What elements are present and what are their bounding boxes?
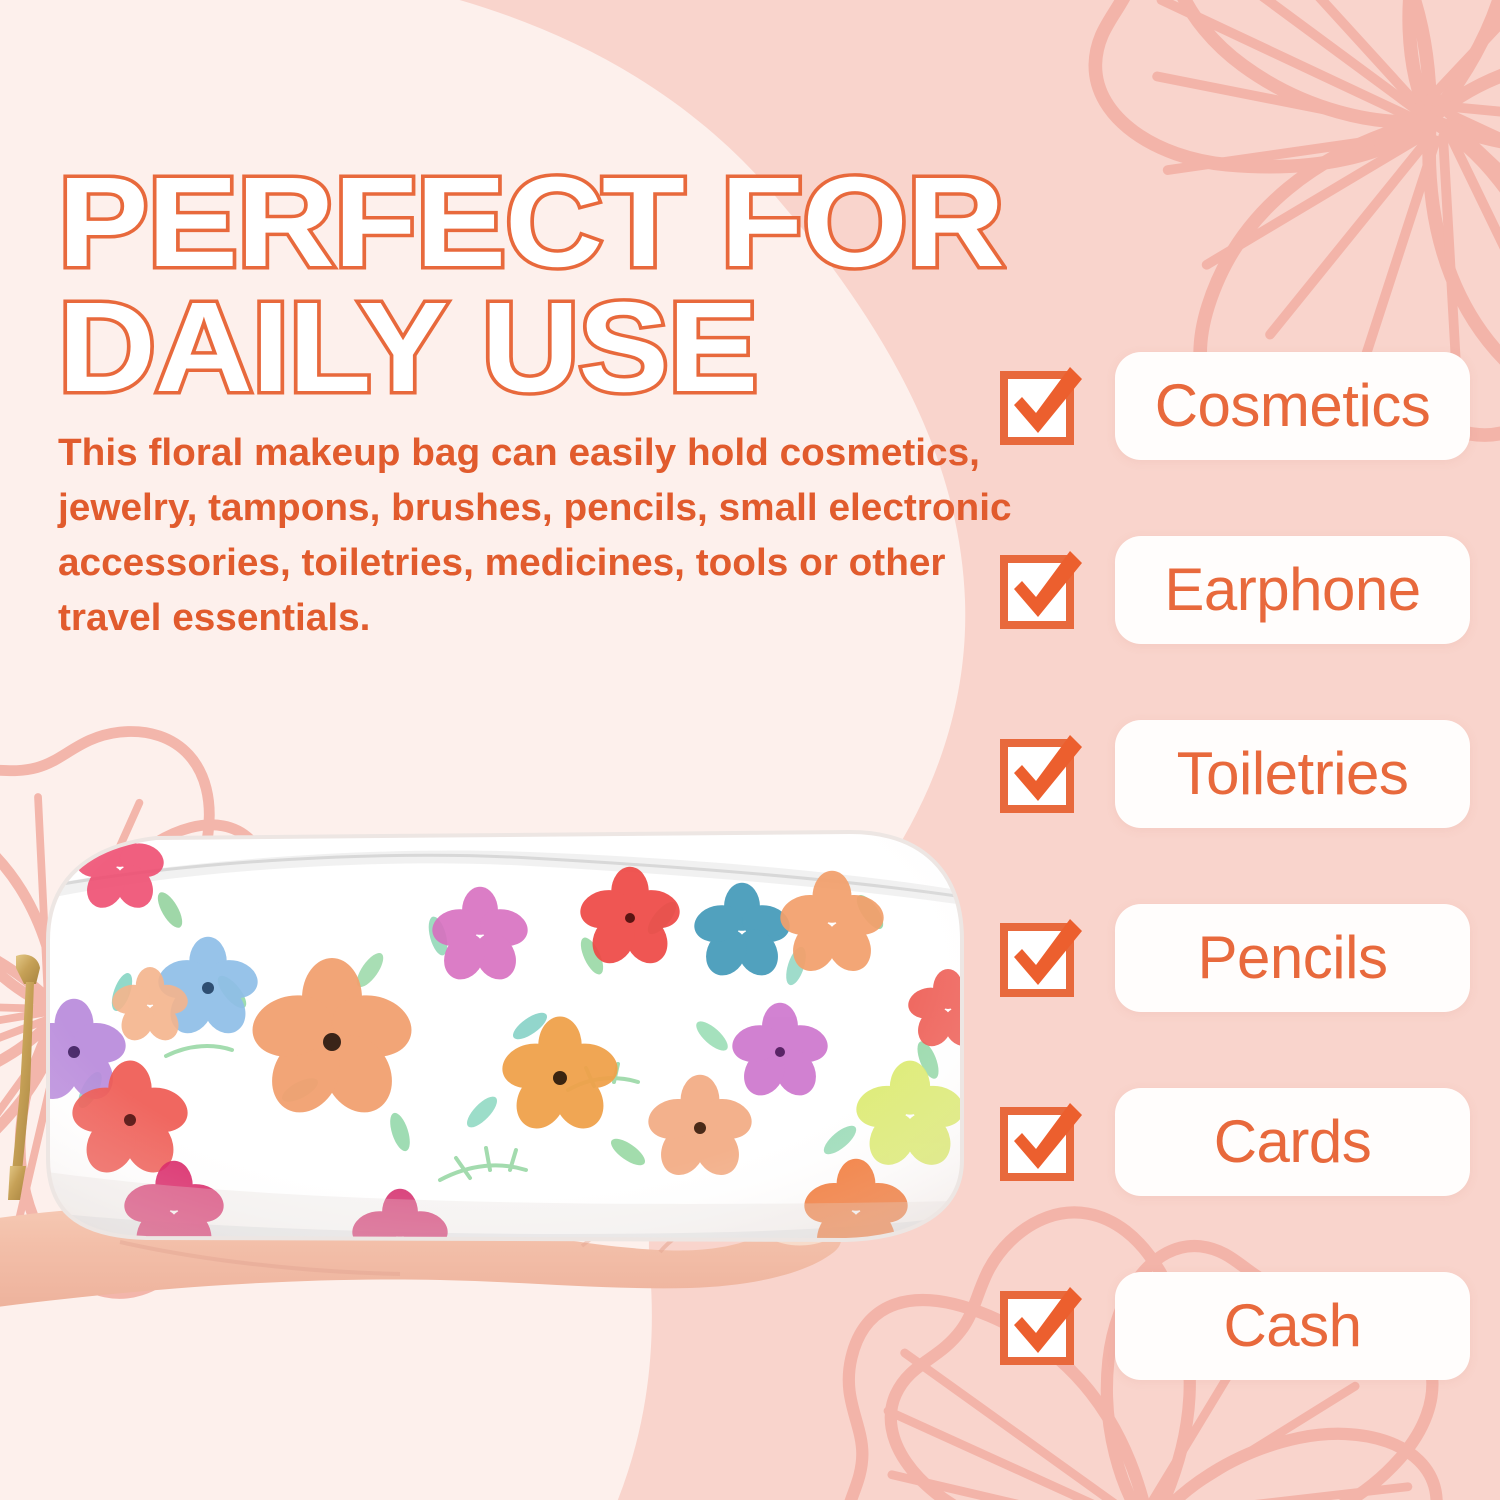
checkbox-checked-icon[interactable] (1000, 915, 1082, 1001)
checklist-label: Toiletries (1177, 744, 1409, 804)
feature-checklist: Cosmetics Earphone Toiletries Pe (1000, 352, 1470, 1380)
checklist-item-cosmetics[interactable]: Cosmetics (1000, 352, 1470, 460)
checklist-pill[interactable]: Cosmetics (1115, 352, 1470, 460)
floral-pouch (0, 760, 1000, 1289)
checklist-pill[interactable]: Earphone (1115, 536, 1470, 644)
checklist-label: Earphone (1164, 560, 1420, 620)
page-title: PERFECT FOR DAILY USE (58, 160, 1097, 411)
checklist-item-pencils[interactable]: Pencils (1000, 904, 1470, 1012)
promo-graphic: PERFECT FOR DAILY USE This floral makeup… (0, 0, 1500, 1500)
product-photo (0, 760, 1000, 1500)
checkbox-checked-icon[interactable] (1000, 1283, 1082, 1369)
checkbox-checked-icon[interactable] (1000, 363, 1082, 449)
checklist-label: Pencils (1198, 928, 1388, 988)
checklist-pill[interactable]: Cash (1115, 1272, 1470, 1380)
checklist-pill[interactable]: Toiletries (1115, 720, 1470, 828)
checklist-label: Cosmetics (1155, 376, 1431, 436)
checklist-pill[interactable]: Pencils (1115, 904, 1470, 1012)
description-paragraph: This floral makeup bag can easily hold c… (58, 426, 1017, 646)
checklist-item-cash[interactable]: Cash (1000, 1272, 1470, 1380)
checklist-item-toiletries[interactable]: Toiletries (1000, 720, 1470, 828)
checklist-item-cards[interactable]: Cards (1000, 1088, 1470, 1196)
gold-zipper-pull (8, 955, 40, 1201)
checklist-label: Cash (1223, 1296, 1361, 1356)
checkbox-checked-icon[interactable] (1000, 731, 1082, 817)
checklist-label: Cards (1214, 1112, 1372, 1172)
checklist-item-earphone[interactable]: Earphone (1000, 536, 1470, 644)
checkbox-checked-icon[interactable] (1000, 1099, 1082, 1185)
checkbox-checked-icon[interactable] (1000, 547, 1082, 633)
checklist-pill[interactable]: Cards (1115, 1088, 1470, 1196)
